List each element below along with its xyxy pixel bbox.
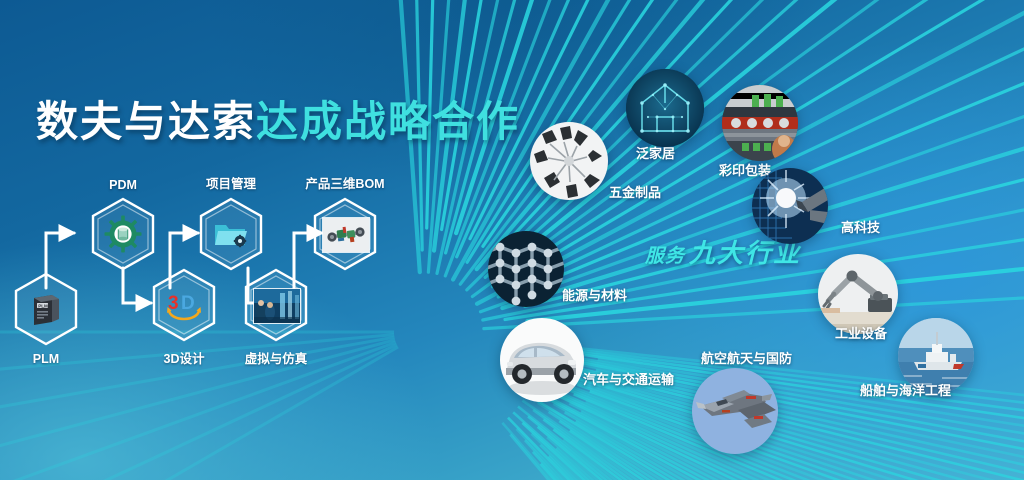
industry-circle-furniture[interactable] (626, 69, 704, 147)
title-white-segment: 数夫与达索 (36, 98, 256, 145)
process-node-label: 项目管理 (206, 173, 256, 192)
industry-label-marine: 船舶与海洋工程 (860, 380, 951, 399)
3d-assembly-photo-icon (322, 217, 370, 253)
process-node-label: PLM (33, 352, 59, 366)
process-node-label: 产品三维BOM (305, 173, 384, 192)
industry-label-automotive: 汽车与交通运输 (583, 369, 674, 388)
fighter-jet-photo (692, 368, 778, 454)
process-node-label: PDM (109, 178, 137, 192)
industry-circle-hardware[interactable] (530, 122, 608, 200)
process-node-plm[interactable]: PLM PLM (13, 272, 79, 346)
industry-circle-automotive[interactable] (500, 318, 584, 402)
server-tower-icon: PLM (26, 289, 66, 329)
process-node-3d-bom[interactable]: 产品三维BOM (312, 197, 378, 271)
process-node-simulation[interactable]: 虚拟与仿真 (243, 268, 309, 342)
robot-arm-photo (818, 254, 898, 334)
simulation-photo-icon (253, 288, 301, 324)
industry-label-hardware: 五金制品 (609, 182, 661, 201)
svg-text:D: D (181, 293, 195, 314)
strategic-partnership-banner: 数夫与达索达成战略合作 服务九大行业 (0, 0, 1024, 480)
plm-process-diagram: PLM PLM (0, 170, 430, 380)
process-node-label: 3D设计 (164, 348, 205, 367)
industry-label-equipment: 工业设备 (835, 323, 887, 342)
industry-circle-aerospace[interactable] (692, 368, 778, 454)
folder-gear-icon (211, 214, 251, 254)
page-title: 数夫与达索达成战略合作 (36, 88, 520, 149)
svg-text:PLM: PLM (38, 303, 48, 308)
slogan-prefix: 服务 (645, 246, 685, 267)
molecular-lattice-photo (488, 231, 564, 307)
industry-label-aerospace: 航空航天与国防 (701, 348, 792, 367)
silver-suv-photo (500, 318, 584, 402)
process-node-project-management[interactable]: 项目管理 (198, 197, 264, 271)
title-cyan-segment: 达成战略合作 (256, 98, 520, 145)
industry-circle-equipment[interactable] (818, 254, 898, 334)
industry-label-furniture: 泛家居 (636, 143, 675, 162)
industry-circle-printing[interactable] (722, 85, 798, 161)
gear-database-icon (103, 214, 143, 254)
industry-circle-energy[interactable] (488, 231, 564, 307)
process-node-pdm[interactable]: PDM (90, 197, 156, 271)
process-node-3d-design[interactable]: 3 D 3D设计 (151, 268, 217, 342)
circuit-chip-photo (752, 168, 828, 244)
printing-press-photo (722, 85, 798, 161)
industry-label-hightech: 高科技 (841, 217, 880, 236)
3d-design-icon: 3 D (164, 285, 204, 325)
svg-text:3: 3 (168, 293, 179, 314)
industry-label-energy: 能源与材料 (562, 285, 627, 304)
hardware-tools-photo (530, 122, 608, 200)
smart-home-outline-photo (626, 69, 704, 147)
industry-circle-hightech[interactable] (752, 168, 828, 244)
process-node-label: 虚拟与仿真 (245, 348, 308, 367)
